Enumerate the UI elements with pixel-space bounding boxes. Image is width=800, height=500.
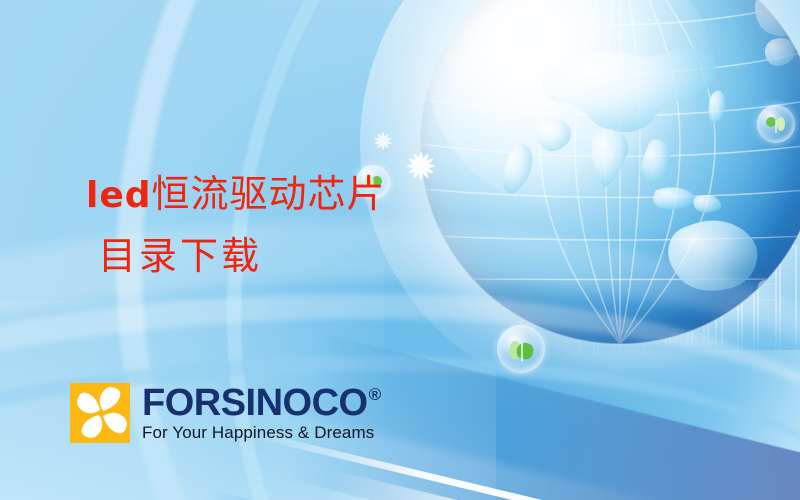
headline-cjk: 恒流驱动芯片 xyxy=(152,172,386,216)
bubble-icon xyxy=(497,325,545,373)
logo-tagline: For Your Happiness & Dreams xyxy=(142,423,381,443)
logo-company-name: FORSINOCO ® xyxy=(142,384,381,422)
green-sprout-icon xyxy=(757,105,795,143)
logo-wordmark: FORSINOCO ® For Your Happiness & Dreams xyxy=(142,384,381,443)
daisy-flower-icon xyxy=(368,126,398,161)
headline: led恒流驱动芯片 目录下载 xyxy=(86,164,386,286)
headline-line-2: 目录下载 xyxy=(86,226,386,286)
four-petal-pinwheel-icon xyxy=(70,383,130,443)
headline-latin: led xyxy=(86,175,152,216)
headline-line-1: led恒流驱动芯片 xyxy=(86,164,386,226)
green-sprout-icon xyxy=(497,325,545,373)
globe-icon xyxy=(420,0,800,344)
globe-sphere xyxy=(420,0,800,344)
logo-name-text: FORSINOCO xyxy=(142,384,368,422)
registered-trademark-icon: ® xyxy=(369,386,381,403)
bubble-icon xyxy=(757,105,795,143)
daisy-flower-icon xyxy=(398,143,444,194)
company-logo: FORSINOCO ® For Your Happiness & Dreams xyxy=(70,383,381,443)
promo-banner: led恒流驱动芯片 目录下载 FORSINOCO ® For Your Happ… xyxy=(0,0,800,500)
